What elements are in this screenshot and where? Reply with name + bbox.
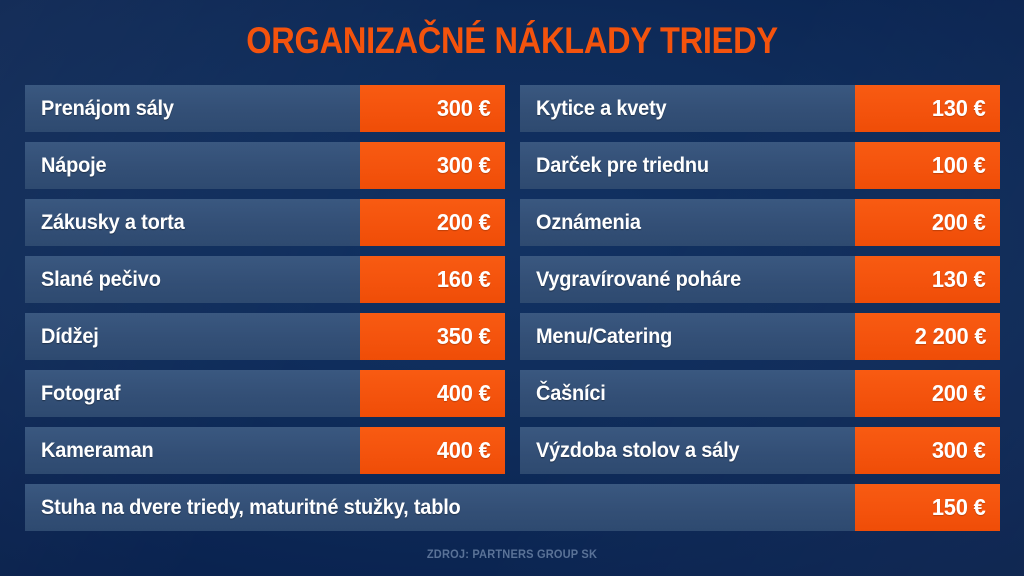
- item-label: Darček pre triednu: [536, 154, 709, 177]
- item-label: Slané pečivo: [41, 268, 161, 291]
- item-price: 200 €: [437, 210, 491, 235]
- item-price: 2 200 €: [914, 324, 986, 349]
- item-label-cell: Prenájom sály: [25, 85, 360, 132]
- cost-entry-right: Menu/Catering2 200 €: [520, 313, 1000, 360]
- item-price-cell: 130 €: [855, 256, 1000, 303]
- item-label-cell: Výzdoba stolov a sály: [520, 427, 855, 474]
- item-label: Prenájom sály: [41, 97, 174, 120]
- item-label: Čašníci: [536, 382, 606, 405]
- cost-entry-right: Oznámenia200 €: [520, 199, 1000, 246]
- item-label-cell: Zákusky a torta: [25, 199, 360, 246]
- item-price-cell: 300 €: [360, 85, 505, 132]
- table-row: Kameraman400 €Výzdoba stolov a sály300 €: [25, 427, 1000, 474]
- cost-entry-left: Nápoje300 €: [25, 142, 505, 189]
- item-label: Kytice a kvety: [536, 97, 666, 120]
- item-price-cell: 400 €: [360, 370, 505, 417]
- item-price-cell: 160 €: [360, 256, 505, 303]
- item-price: 160 €: [437, 267, 491, 292]
- item-price: 400 €: [437, 438, 491, 463]
- table-row: Prenájom sály300 €Kytice a kvety130 €: [25, 85, 1000, 132]
- item-price: 100 €: [932, 153, 986, 178]
- table-row: Fotograf400 €Čašníci200 €: [25, 370, 1000, 417]
- table-row-footer: Stuha na dvere triedy, maturitné stužky,…: [25, 484, 1000, 531]
- item-label-cell: Darček pre triednu: [520, 142, 855, 189]
- item-price-cell: 200 €: [360, 199, 505, 246]
- item-label-cell: Slané pečivo: [25, 256, 360, 303]
- footer-item-price: 150 €: [932, 495, 986, 520]
- item-price: 400 €: [437, 381, 491, 406]
- item-label: Dídžej: [41, 325, 99, 348]
- item-price: 130 €: [932, 267, 986, 292]
- cost-entry-right: Vygravírované poháre130 €: [520, 256, 1000, 303]
- item-price-cell: 350 €: [360, 313, 505, 360]
- item-label-cell: Menu/Catering: [520, 313, 855, 360]
- item-price: 300 €: [932, 438, 986, 463]
- item-label: Kameraman: [41, 439, 154, 462]
- footer-label-cell: Stuha na dvere triedy, maturitné stužky,…: [25, 484, 855, 531]
- item-label: Fotograf: [41, 382, 120, 405]
- cost-entry-right: Darček pre triednu100 €: [520, 142, 1000, 189]
- cost-table: Prenájom sály300 €Kytice a kvety130 €Náp…: [25, 85, 1000, 531]
- item-label-cell: Čašníci: [520, 370, 855, 417]
- table-row: Slané pečivo160 €Vygravírované poháre130…: [25, 256, 1000, 303]
- cost-entry-left: Slané pečivo160 €: [25, 256, 505, 303]
- cost-entry-left: Zákusky a torta200 €: [25, 199, 505, 246]
- item-price: 130 €: [932, 96, 986, 121]
- item-label: Výzdoba stolov a sály: [536, 439, 739, 462]
- item-price-cell: 300 €: [360, 142, 505, 189]
- item-price: 200 €: [932, 381, 986, 406]
- item-price-cell: 300 €: [855, 427, 1000, 474]
- cost-entry-left: Prenájom sály300 €: [25, 85, 505, 132]
- table-row: Nápoje300 €Darček pre triednu100 €: [25, 142, 1000, 189]
- cost-entry-left: Fotograf400 €: [25, 370, 505, 417]
- paired-rows-container: Prenájom sály300 €Kytice a kvety130 €Náp…: [25, 85, 1000, 474]
- cost-entry-right: Čašníci200 €: [520, 370, 1000, 417]
- footer-item-label: Stuha na dvere triedy, maturitné stužky,…: [41, 496, 461, 519]
- footer-price-cell: 150 €: [855, 484, 1000, 531]
- item-label-cell: Nápoje: [25, 142, 360, 189]
- item-price-cell: 400 €: [360, 427, 505, 474]
- item-price-cell: 100 €: [855, 142, 1000, 189]
- item-price: 300 €: [437, 96, 491, 121]
- item-label-cell: Dídžej: [25, 313, 360, 360]
- item-label-cell: Kytice a kvety: [520, 85, 855, 132]
- item-label-cell: Fotograf: [25, 370, 360, 417]
- cost-entry-right: Výzdoba stolov a sály300 €: [520, 427, 1000, 474]
- item-label-cell: Oznámenia: [520, 199, 855, 246]
- item-price-cell: 200 €: [855, 370, 1000, 417]
- item-price: 300 €: [437, 153, 491, 178]
- item-label: Oznámenia: [536, 211, 641, 234]
- item-label: Menu/Catering: [536, 325, 672, 348]
- infographic-canvas: ORGANIZAČNÉ NÁKLADY TRIEDY Prenájom sály…: [0, 0, 1024, 576]
- table-row: Dídžej350 €Menu/Catering2 200 €: [25, 313, 1000, 360]
- item-price: 200 €: [932, 210, 986, 235]
- item-price-cell: 130 €: [855, 85, 1000, 132]
- table-row: Zákusky a torta200 €Oznámenia200 €: [25, 199, 1000, 246]
- item-label: Vygravírované poháre: [536, 268, 741, 291]
- cost-entry-left: Dídžej350 €: [25, 313, 505, 360]
- item-price-cell: 2 200 €: [855, 313, 1000, 360]
- item-price-cell: 200 €: [855, 199, 1000, 246]
- item-label: Zákusky a torta: [41, 211, 185, 234]
- item-price: 350 €: [437, 324, 491, 349]
- page-title: ORGANIZAČNÉ NÁKLADY TRIEDY: [61, 21, 962, 61]
- cost-entry-left: Kameraman400 €: [25, 427, 505, 474]
- source-credit: ZDROJ: PARTNERS GROUP SK: [41, 547, 983, 561]
- item-label: Nápoje: [41, 154, 106, 177]
- item-label-cell: Kameraman: [25, 427, 360, 474]
- item-label-cell: Vygravírované poháre: [520, 256, 855, 303]
- cost-entry-right: Kytice a kvety130 €: [520, 85, 1000, 132]
